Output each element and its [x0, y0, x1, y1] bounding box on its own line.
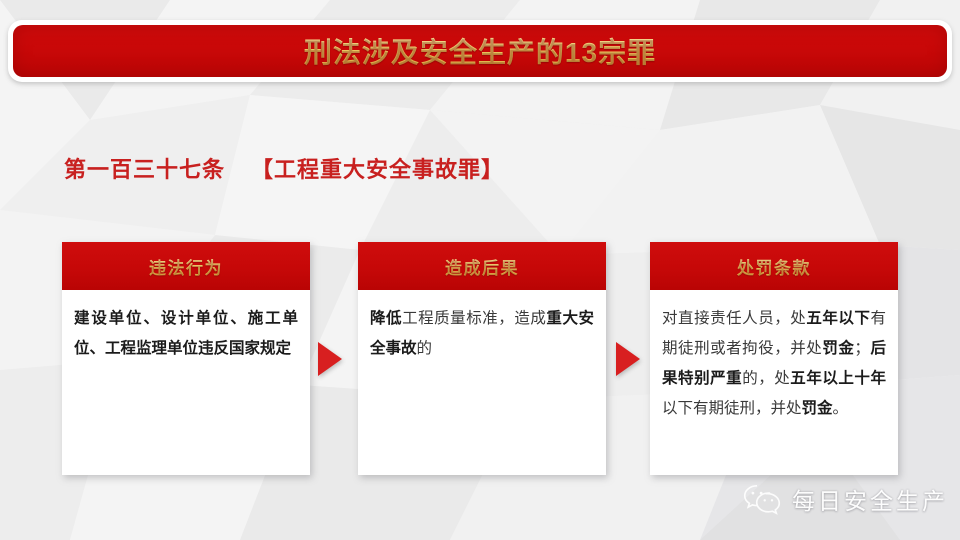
card-header: 违法行为: [62, 242, 310, 290]
body-text: 的: [417, 340, 433, 357]
body-text: 对直接责任人员，处: [662, 310, 806, 327]
watermark: 每日安全生产: [742, 482, 948, 516]
article-number: 第一百三十七条: [64, 157, 225, 182]
emphasis-text: 五年以上十年: [790, 370, 886, 387]
card-consequence: 造成后果 降低工程质量标准，造成重大安全事故的: [358, 242, 606, 475]
emphasis-text: 罚金: [802, 400, 833, 417]
emphasis-text: 五年以下: [806, 310, 870, 327]
body-text: 的，处: [742, 370, 790, 387]
presentation-slide: 刑法涉及安全生产的13宗罪 第一百三十七条【工程重大安全事故罪】 违法行为 建设…: [0, 0, 960, 540]
card-body-text: 建设单位、设计单位、施工单位、工程监理单位违反国家规定: [62, 290, 310, 374]
card-body-text: 降低工程质量标准，造成重大安全事故的: [358, 290, 606, 374]
cards-row: 违法行为 建设单位、设计单位、施工单位、工程监理单位违反国家规定 造成后果 降低…: [0, 242, 960, 482]
watermark-label: 每日安全生产: [792, 482, 948, 516]
play-triangle-right-icon: [318, 342, 342, 376]
body-text: 工程质量标准，造成: [402, 310, 546, 327]
emphasis-text: 降低: [370, 310, 402, 327]
card-header-label: 处罚条款: [737, 254, 811, 279]
card-illegal-act: 违法行为 建设单位、设计单位、施工单位、工程监理单位违反国家规定: [62, 242, 310, 475]
body-text: ；: [854, 340, 870, 357]
card-header-label: 造成后果: [445, 254, 519, 279]
wechat-logo-icon: [742, 482, 782, 516]
emphasis-text: 罚金: [822, 340, 854, 357]
card-header: 造成后果: [358, 242, 606, 290]
article-subtitle: 第一百三十七条【工程重大安全事故罪】: [64, 152, 504, 184]
page-title: 刑法涉及安全生产的13宗罪: [304, 31, 656, 71]
card-body-text: 对直接责任人员，处五年以下有期徒刑或者拘役，并处罚金；后果特别严重的，处五年以上…: [650, 290, 898, 434]
card-header-label: 违法行为: [149, 254, 223, 279]
crime-name: 【工程重大安全事故罪】: [251, 157, 504, 182]
play-triangle-right-icon: [616, 342, 640, 376]
card-header: 处罚条款: [650, 242, 898, 290]
body-text: 以下有期徒刑，并处: [662, 400, 802, 417]
slide-title-bar: 刑法涉及安全生产的13宗罪: [8, 20, 952, 82]
card-penalty: 处罚条款 对直接责任人员，处五年以下有期徒刑或者拘役，并处罚金；后果特别严重的，…: [650, 242, 898, 475]
body-text: 。: [833, 400, 849, 417]
title-bar-inner: 刑法涉及安全生产的13宗罪: [13, 25, 947, 77]
